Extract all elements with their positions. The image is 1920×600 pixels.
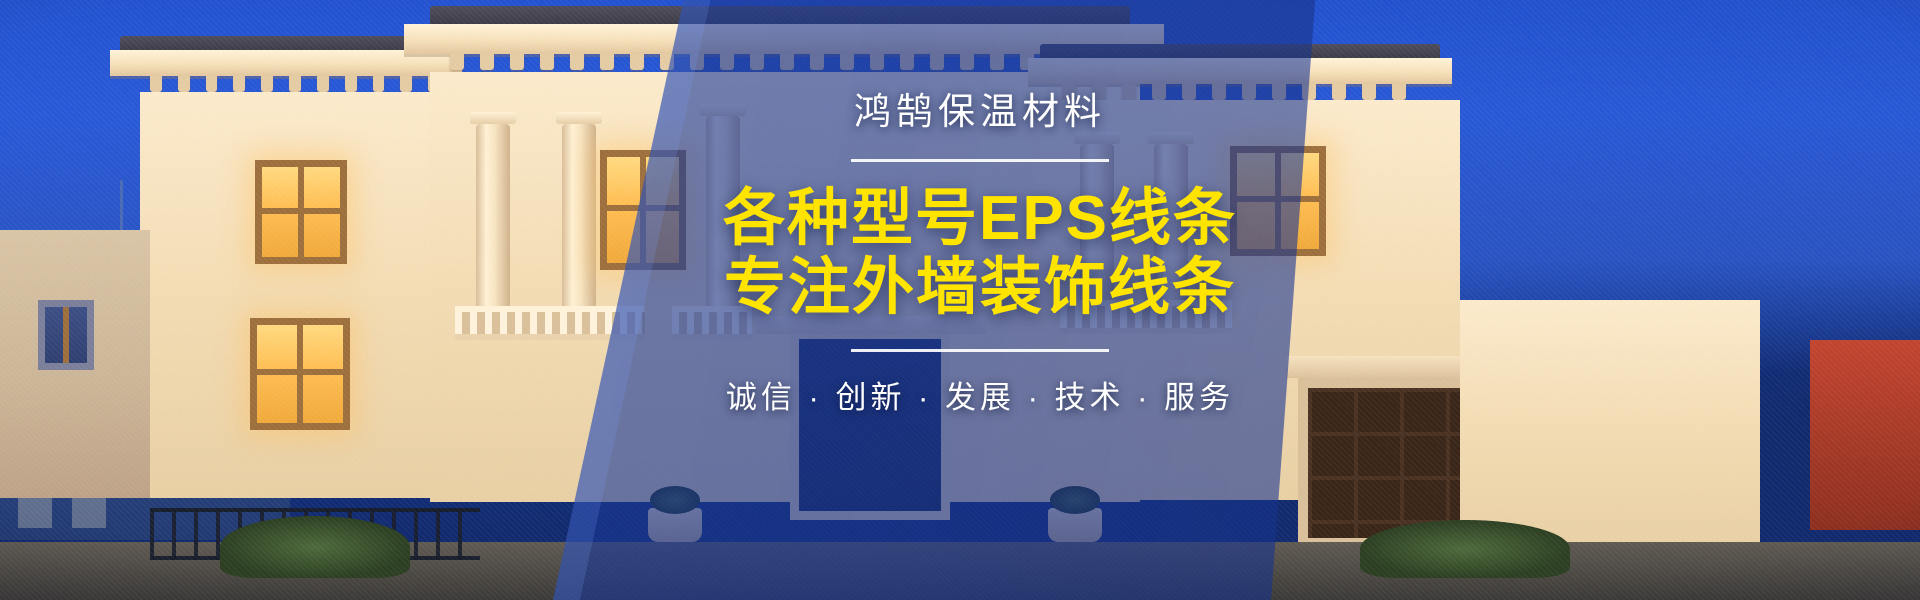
banner-hero: 鸿鹄保温材料 各种型号EPS线条 专注外墙装饰线条 诚信 · 创新 · 发展 ·… <box>0 0 1920 600</box>
divider-top <box>851 159 1109 162</box>
column-capital <box>556 112 602 124</box>
portico-column <box>476 124 510 310</box>
hedge-left <box>220 516 410 578</box>
left-annex-window <box>38 300 94 370</box>
divider-bottom <box>851 349 1109 352</box>
left-wing-window-lower <box>250 318 350 430</box>
slogan: 诚信 · 创新 · 发展 · 技术 · 服务 <box>700 372 1260 417</box>
company-name: 鸿鹄保温材料 <box>700 92 1260 133</box>
red-structure <box>1810 340 1920 530</box>
headline-line-2: 专注外墙装饰线条 <box>700 253 1260 322</box>
headline: 各种型号EPS线条 专注外墙装饰线条 <box>700 184 1260 323</box>
left-wing-window-upper <box>255 160 347 264</box>
banner-copy: 鸿鹄保温材料 各种型号EPS线条 专注外墙装饰线条 诚信 · 创新 · 发展 ·… <box>700 92 1260 417</box>
column-capital <box>470 112 516 124</box>
right-far-wall <box>1460 300 1760 550</box>
left-wing-dentils <box>150 76 440 92</box>
headline-line-1: 各种型号EPS线条 <box>723 184 1237 253</box>
portico-column <box>562 124 596 310</box>
left-wing-wall <box>140 92 440 498</box>
hedge-right <box>1360 520 1570 578</box>
